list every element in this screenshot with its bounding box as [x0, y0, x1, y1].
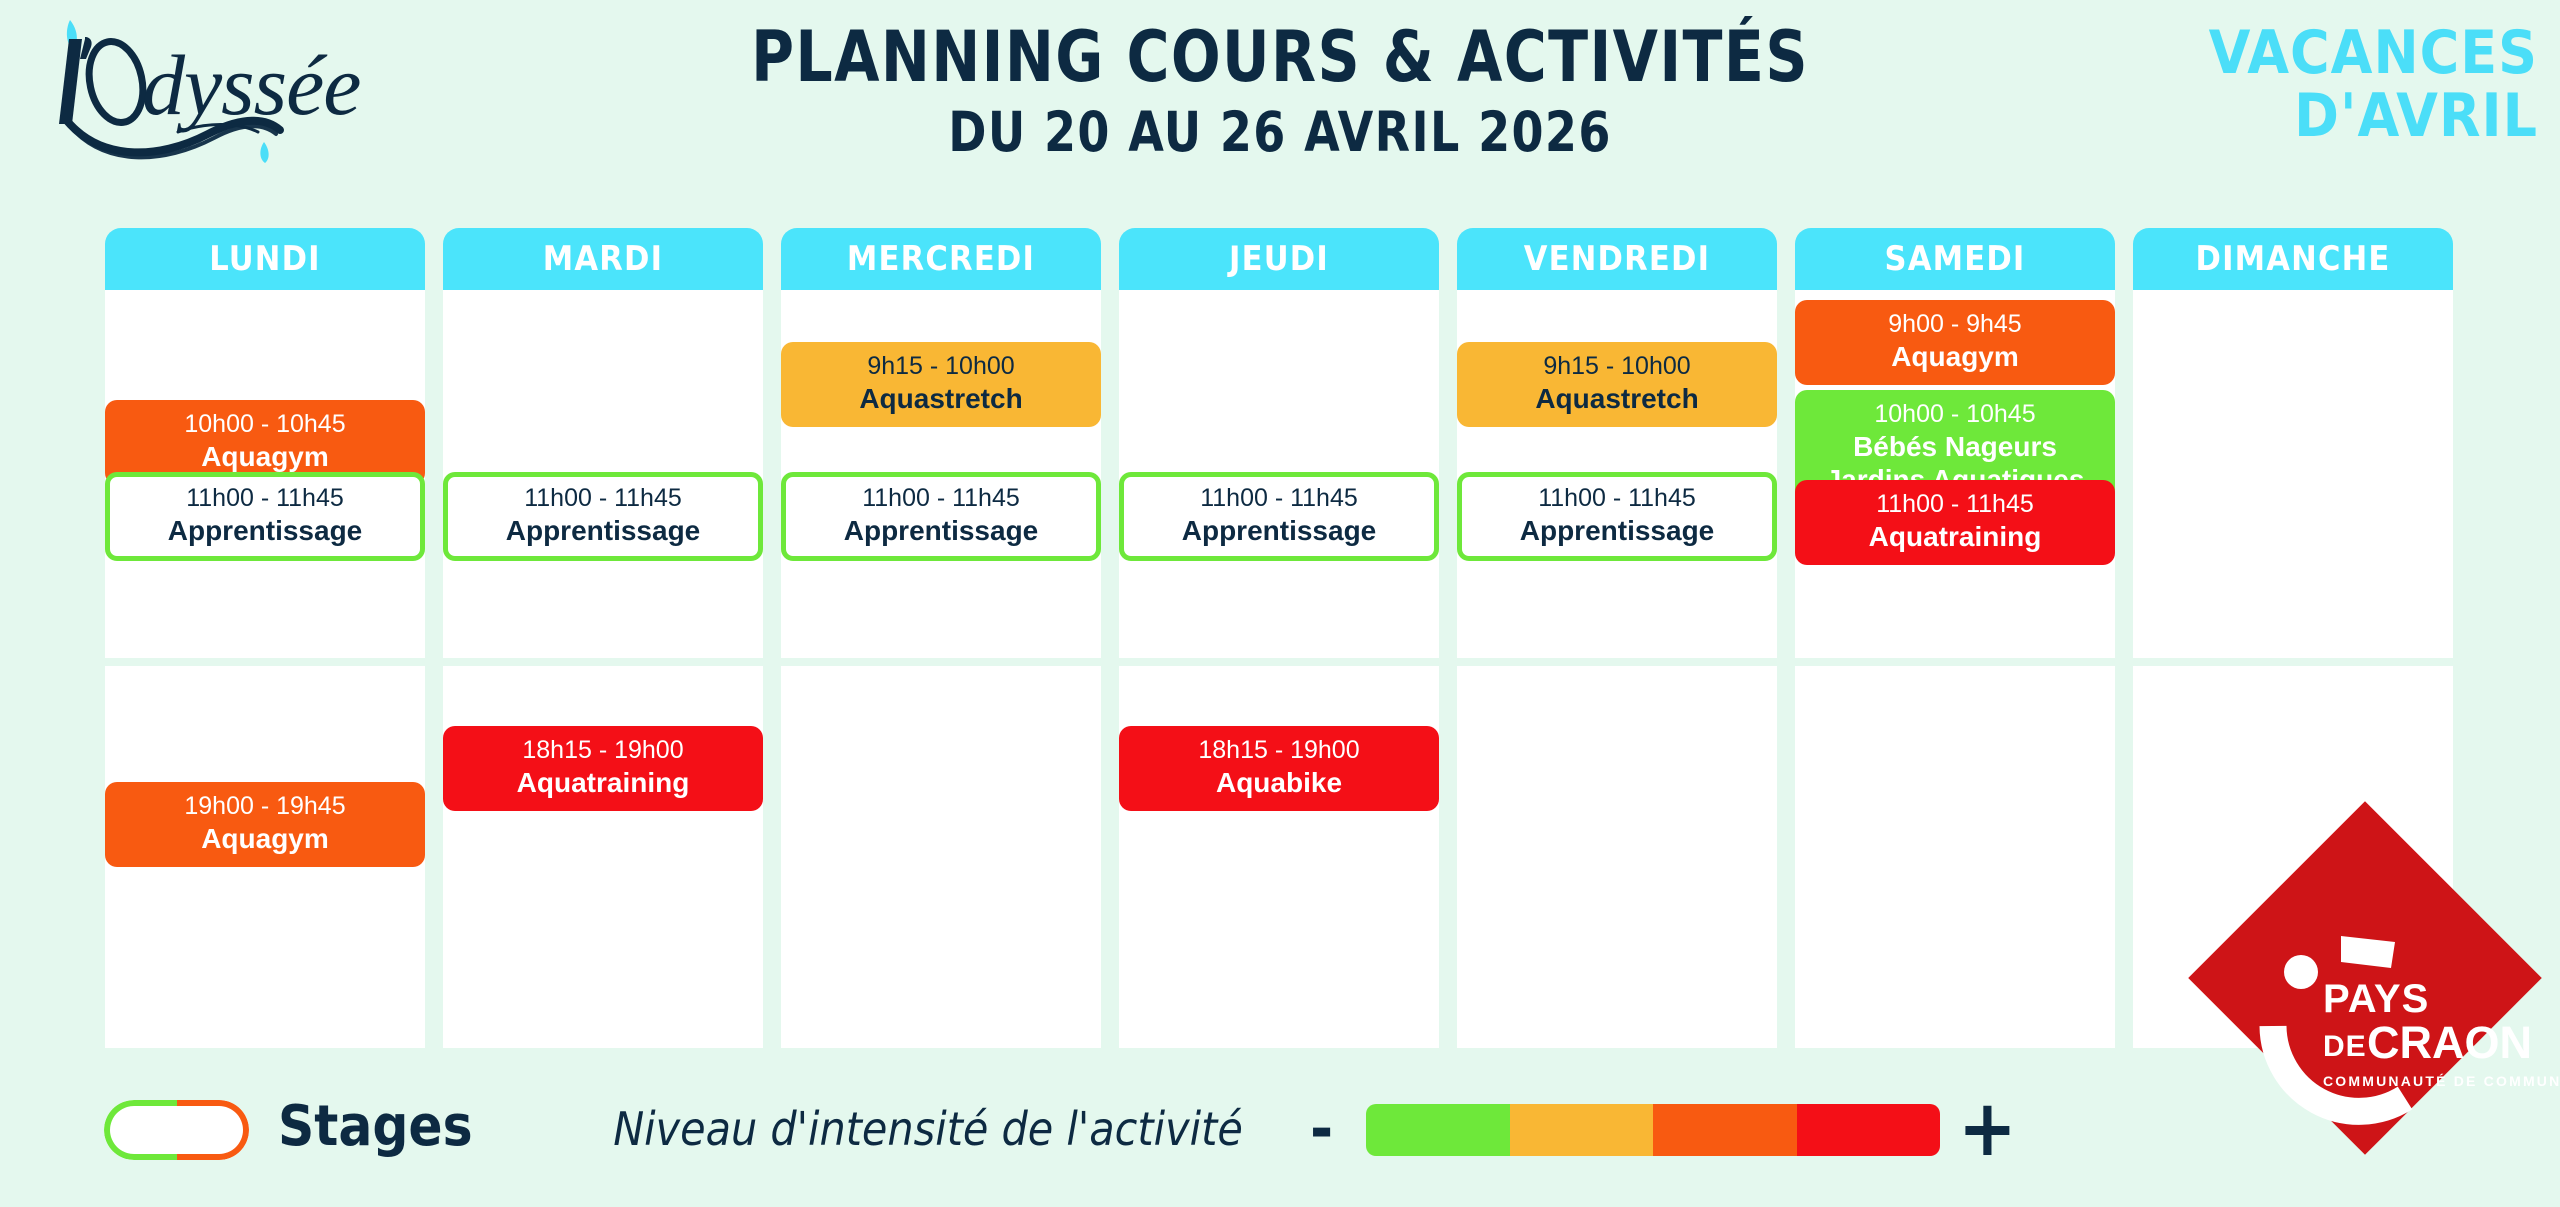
day-column-samedi: SAMEDI9h00 - 9h45Aquagym10h00 - 10h45Béb…	[1795, 228, 2115, 1078]
event-time: 9h15 - 10h00	[789, 352, 1093, 382]
stages-swatch	[104, 1100, 249, 1160]
event-time: 10h00 - 10h45	[113, 410, 417, 440]
day-column-lundi: LUNDI10h00 - 10h45Aquagym11h00 - 11h45Ap…	[105, 228, 425, 1078]
event-time: 19h00 - 19h45	[113, 792, 417, 822]
intensity-segment-1	[1366, 1104, 1510, 1156]
event-name: Apprentissage	[116, 514, 414, 548]
event-card[interactable]: 19h00 - 19h45Aquagym	[105, 782, 425, 867]
day-header-lundi[interactable]: LUNDI	[105, 228, 425, 290]
title-block: PLANNING COURS & ACTIVITÉS DU 20 AU 26 A…	[640, 22, 1920, 162]
page-title: PLANNING COURS & ACTIVITÉS	[685, 22, 1875, 92]
day-header-samedi[interactable]: SAMEDI	[1795, 228, 2115, 290]
morning-slot: 9h15 - 10h00Aquastretch11h00 - 11h45Appr…	[781, 290, 1101, 658]
event-name: Aquagym	[113, 440, 417, 474]
day-column-dimanche: DIMANCHE	[2133, 228, 2453, 1078]
event-card[interactable]: 18h15 - 19h00Aquatraining	[443, 726, 763, 811]
minus-icon: -	[1310, 1100, 1333, 1158]
morning-slot: 11h00 - 11h45Apprentissage	[1119, 290, 1439, 658]
planning-grid: LUNDI10h00 - 10h45Aquagym11h00 - 11h45Ap…	[105, 228, 2457, 1078]
day-header-vendredi[interactable]: VENDREDI	[1457, 228, 1777, 290]
day-column-mardi: MARDI11h00 - 11h45Apprentissage18h15 - 1…	[443, 228, 763, 1078]
event-card[interactable]: 11h00 - 11h45Apprentissage	[1457, 472, 1777, 561]
event-name: Aquastretch	[789, 382, 1093, 416]
day-column-vendredi: VENDREDI9h15 - 10h00Aquastretch11h00 - 1…	[1457, 228, 1777, 1078]
event-name: Apprentissage	[792, 514, 1090, 548]
event-card[interactable]: 9h15 - 10h00Aquastretch	[781, 342, 1101, 427]
morning-slot: 9h15 - 10h00Aquastretch11h00 - 11h45Appr…	[1457, 290, 1777, 658]
event-time: 9h15 - 10h00	[1465, 352, 1769, 382]
vacation-line-2: D'AVRIL	[1978, 85, 2538, 148]
odyssee-logo: dyssée	[38, 12, 438, 197]
stages-swatch-orange-half	[177, 1100, 250, 1160]
day-header-dimanche[interactable]: DIMANCHE	[2133, 228, 2453, 290]
event-time: 11h00 - 11h45	[792, 484, 1090, 514]
event-name: Apprentissage	[1130, 514, 1428, 548]
afternoon-slot	[781, 666, 1101, 1048]
event-name: Aquagym	[1803, 340, 2107, 374]
afternoon-slot: 18h15 - 19h00Aquabike	[1119, 666, 1439, 1048]
afternoon-slot	[1457, 666, 1777, 1048]
morning-slot: 11h00 - 11h45Apprentissage	[443, 290, 763, 658]
event-name: Aquagym	[113, 822, 417, 856]
afternoon-slot: 18h15 - 19h00Aquatraining	[443, 666, 763, 1048]
legend-footer: Stages Niveau d'intensité de l'activité …	[0, 1082, 2560, 1207]
event-card[interactable]: 18h15 - 19h00Aquabike	[1119, 726, 1439, 811]
morning-slot	[2133, 290, 2453, 658]
intensity-segment-4	[1797, 1104, 1941, 1156]
afternoon-slot: 19h00 - 19h45Aquagym	[105, 666, 425, 1048]
event-time: 11h00 - 11h45	[1130, 484, 1428, 514]
event-name: Apprentissage	[1468, 514, 1766, 548]
afternoon-slot	[1795, 666, 2115, 1048]
afternoon-slot	[2133, 666, 2453, 1048]
event-card[interactable]: 9h00 - 9h45Aquagym	[1795, 300, 2115, 385]
event-card[interactable]: 11h00 - 11h45Aquatraining	[1795, 480, 2115, 565]
intensity-scale-bar	[1366, 1104, 1940, 1156]
intensity-segment-3	[1653, 1104, 1797, 1156]
event-time: 10h00 - 10h45	[1803, 400, 2107, 430]
event-time: 11h00 - 11h45	[116, 484, 414, 514]
event-card[interactable]: 11h00 - 11h45Apprentissage	[781, 472, 1101, 561]
day-column-mercredi: MERCREDI9h15 - 10h00Aquastretch11h00 - 1…	[781, 228, 1101, 1078]
event-card[interactable]: 9h15 - 10h00Aquastretch	[1457, 342, 1777, 427]
event-name: Apprentissage	[454, 514, 752, 548]
event-time: 18h15 - 19h00	[1127, 736, 1431, 766]
event-name: Aquatraining	[451, 766, 755, 800]
event-time: 18h15 - 19h00	[451, 736, 755, 766]
event-card[interactable]: 11h00 - 11h45Apprentissage	[105, 472, 425, 561]
event-card[interactable]: 11h00 - 11h45Apprentissage	[443, 472, 763, 561]
page-subtitle: DU 20 AU 26 AVRIL 2026	[685, 104, 1875, 162]
event-time: 11h00 - 11h45	[454, 484, 752, 514]
page-header: dyssée PLANNING COURS & ACTIVITÉS DU 20 …	[0, 0, 2560, 215]
event-card[interactable]: 11h00 - 11h45Apprentissage	[1119, 472, 1439, 561]
day-column-jeudi: JEUDI11h00 - 11h45Apprentissage18h15 - 1…	[1119, 228, 1439, 1078]
vacation-line-1: VACANCES	[1978, 22, 2538, 85]
event-time: 11h00 - 11h45	[1468, 484, 1766, 514]
day-header-mardi[interactable]: MARDI	[443, 228, 763, 290]
event-name: Bébés Nageurs	[1803, 430, 2107, 464]
morning-slot: 9h00 - 9h45Aquagym10h00 - 10h45Bébés Nag…	[1795, 290, 2115, 658]
event-name: Aquabike	[1127, 766, 1431, 800]
day-header-mercredi[interactable]: MERCREDI	[781, 228, 1101, 290]
event-name: Aquastretch	[1465, 382, 1769, 416]
stages-label: Stages	[278, 1094, 473, 1159]
day-header-jeudi[interactable]: JEUDI	[1119, 228, 1439, 290]
event-time: 11h00 - 11h45	[1803, 490, 2107, 520]
vacation-banner: VACANCES D'AVRIL	[1978, 22, 2538, 148]
intensity-label: Niveau d'intensité de l'activité	[578, 1102, 1278, 1156]
plus-icon: +	[1958, 1090, 2017, 1168]
event-time: 9h00 - 9h45	[1803, 310, 2107, 340]
morning-slot: 10h00 - 10h45Aquagym11h00 - 11h45Apprent…	[105, 290, 425, 658]
stages-swatch-green-half	[104, 1100, 177, 1160]
event-name: Aquatraining	[1803, 520, 2107, 554]
intensity-segment-2	[1510, 1104, 1654, 1156]
